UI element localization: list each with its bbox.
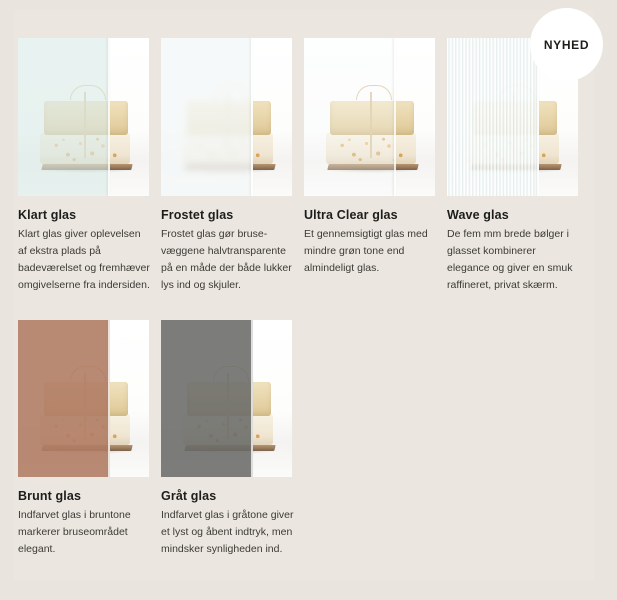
soap-string-tail	[227, 373, 229, 439]
card-caption: Ultra Clear glas Et gennemsigtigt glas m…	[304, 208, 438, 277]
soap-tray	[470, 164, 561, 170]
nyhed-badge: NYHED	[530, 8, 603, 81]
card-caption: Wave glas De fem mm brede bølger i glass…	[447, 208, 581, 294]
soap-tray	[327, 164, 418, 170]
card-description: Indfarvet glas i gråtone giver et lyst o…	[161, 507, 295, 558]
card-description: Et gennemsigtigt glas med mindre grøn to…	[304, 226, 438, 277]
soap-string-tail	[370, 92, 372, 158]
soap-stack-illustration	[40, 94, 132, 166]
card-description: Indfarvet glas i bruntone markerer bruse…	[18, 507, 152, 558]
glass-card-brunt-glas[interactable]: Brunt glas Indfarvet glas i bruntone mar…	[18, 320, 149, 558]
soap-stack-illustration	[183, 94, 275, 166]
card-title: Ultra Clear glas	[304, 208, 438, 222]
glass-card-frostet-glas[interactable]: Frostet glas Frostet glas gør bruse-vægg…	[161, 38, 292, 294]
card-title: Frostet glas	[161, 208, 295, 222]
glass-options-panel: Klart glas Klart glas giver oplevelsen a…	[0, 0, 617, 600]
soap-tray	[41, 445, 132, 451]
card-title: Brunt glas	[18, 489, 152, 503]
card-description: Frostet glas gør bruse-væggene halvtrans…	[161, 226, 295, 294]
card-caption: Frostet glas Frostet glas gør bruse-vægg…	[161, 208, 295, 294]
card-title: Wave glas	[447, 208, 581, 222]
soap-bar-upper	[187, 101, 271, 135]
soap-bar-upper	[187, 382, 271, 416]
soap-bar-upper	[473, 101, 557, 135]
glass-card-grid: Klart glas Klart glas giver oplevelsen a…	[0, 0, 617, 600]
soap-string-tail	[513, 92, 515, 158]
card-caption: Klart glas Klart glas giver oplevelsen a…	[18, 208, 152, 294]
card-description: De fem mm brede bølger i glasset kombine…	[447, 226, 581, 294]
soap-bar-upper	[44, 382, 128, 416]
soap-tray	[184, 445, 275, 451]
product-image-frostet-glas	[161, 38, 292, 196]
soap-string-tail	[227, 92, 229, 158]
glass-card-ultra-clear-glas[interactable]: Ultra Clear glas Et gennemsigtigt glas m…	[304, 38, 435, 277]
soap-stack-illustration	[40, 375, 132, 447]
soap-bar-upper	[330, 101, 414, 135]
soap-tray	[41, 164, 132, 170]
card-description: Klart glas giver oplevelsen af ekstra pl…	[18, 226, 152, 294]
soap-string-tail	[84, 373, 86, 439]
soap-stack-illustration	[183, 375, 275, 447]
soap-stack-illustration	[469, 94, 561, 166]
glass-card-graat-glas[interactable]: Gråt glas Indfarvet glas i gråtone giver…	[161, 320, 292, 558]
product-image-ultra-clear-glas	[304, 38, 435, 196]
card-title: Gråt glas	[161, 489, 295, 503]
product-image-brunt-glas	[18, 320, 149, 477]
card-caption: Gråt glas Indfarvet glas i gråtone giver…	[161, 489, 295, 558]
soap-string-tail	[84, 92, 86, 158]
soap-bar-upper	[44, 101, 128, 135]
soap-tray	[184, 164, 275, 170]
card-caption: Brunt glas Indfarvet glas i bruntone mar…	[18, 489, 152, 558]
card-title: Klart glas	[18, 208, 152, 222]
soap-stack-illustration	[326, 94, 418, 166]
nyhed-badge-label: NYHED	[544, 38, 589, 52]
product-image-graat-glas	[161, 320, 292, 477]
product-image-klart-glas	[18, 38, 149, 196]
glass-card-klart-glas[interactable]: Klart glas Klart glas giver oplevelsen a…	[18, 38, 149, 294]
